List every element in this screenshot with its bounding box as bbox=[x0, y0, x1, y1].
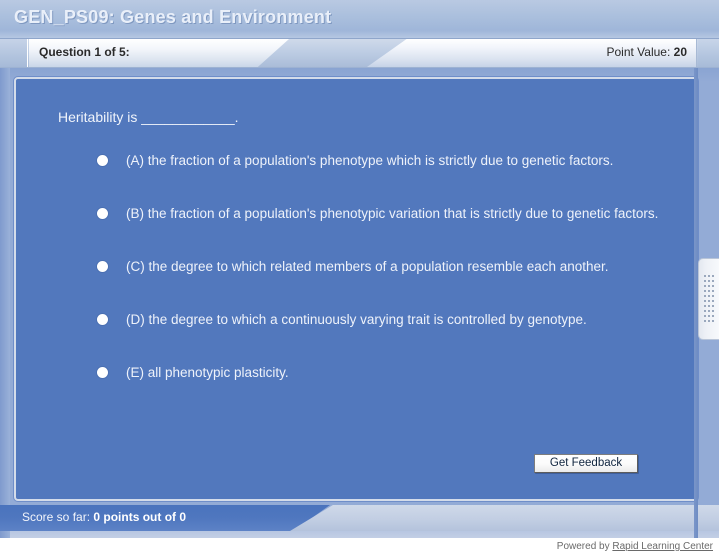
answer-options-list: (A) the fraction of a population's pheno… bbox=[94, 151, 674, 391]
powered-by: Powered by Rapid Learning Center bbox=[557, 541, 713, 552]
grip-dots-icon[interactable] bbox=[698, 258, 719, 340]
grip-dot bbox=[708, 300, 710, 302]
grip-dot bbox=[704, 275, 706, 277]
answer-option-b[interactable]: (B) the fraction of a population's pheno… bbox=[94, 204, 674, 232]
grip-dot bbox=[712, 290, 714, 292]
answer-option-label: (B) the fraction of a population's pheno… bbox=[126, 204, 674, 224]
footer: Powered by Rapid Learning Center bbox=[0, 538, 719, 556]
score-prefix: Score so far: bbox=[22, 510, 90, 524]
grip-dot bbox=[712, 320, 714, 322]
grip-dot bbox=[708, 295, 710, 297]
grip-dot bbox=[704, 310, 706, 312]
grip-dot bbox=[712, 300, 714, 302]
answer-option-label: (D) the degree to which a continuously v… bbox=[126, 310, 674, 330]
score-status-bar: Score so far: 0 points out of 0 bbox=[0, 505, 719, 531]
question-stem: Heritability is ____________. bbox=[58, 109, 239, 125]
grip-dot bbox=[708, 315, 710, 317]
grip-dot bbox=[712, 285, 714, 287]
title-bar: GEN_PS09: Genes and Environment bbox=[0, 0, 719, 39]
grip-dot bbox=[708, 280, 710, 282]
grip-dot bbox=[704, 305, 706, 307]
question-counter-label: Question 1 of 5: bbox=[39, 45, 130, 59]
quiz-application: GEN_PS09: Genes and Environment Question… bbox=[0, 0, 719, 556]
grip-dot bbox=[712, 280, 714, 282]
powered-by-prefix: Powered by bbox=[557, 541, 610, 552]
grip-dot bbox=[712, 305, 714, 307]
strip-left-cap bbox=[0, 39, 28, 67]
score-value: 0 points out of 0 bbox=[93, 510, 186, 524]
grip-dot bbox=[708, 275, 710, 277]
grip-dot bbox=[712, 315, 714, 317]
get-feedback-button[interactable]: Get Feedback bbox=[534, 454, 638, 473]
answer-option-label: (C) the degree to which related members … bbox=[126, 257, 674, 277]
score-bar-right-segment bbox=[290, 505, 719, 531]
score-text: Score so far: 0 points out of 0 bbox=[22, 510, 186, 524]
point-value-text: Point Value: bbox=[606, 45, 670, 59]
grip-dot bbox=[704, 300, 706, 302]
grip-dot bbox=[704, 295, 706, 297]
grip-dot bbox=[704, 290, 706, 292]
answer-option-label: (A) the fraction of a population's pheno… bbox=[126, 151, 674, 171]
radio-button-icon[interactable] bbox=[97, 155, 108, 166]
grip-dot-grid bbox=[704, 275, 716, 325]
left-rail bbox=[0, 68, 10, 538]
answer-option-c[interactable]: (C) the degree to which related members … bbox=[94, 257, 674, 285]
question-panel: Heritability is ____________. (A) the fr… bbox=[14, 77, 698, 501]
question-info-strip: Question 1 of 5: Point Value: 20 bbox=[0, 39, 719, 68]
page-title: GEN_PS09: Genes and Environment bbox=[14, 7, 331, 28]
point-value-number: 20 bbox=[674, 45, 687, 59]
radio-button-icon[interactable] bbox=[97, 208, 108, 219]
strip-right-cap bbox=[698, 39, 719, 67]
grip-dot bbox=[708, 290, 710, 292]
grip-dot bbox=[704, 315, 706, 317]
grip-dot bbox=[708, 305, 710, 307]
answer-option-a[interactable]: (A) the fraction of a population's pheno… bbox=[94, 151, 674, 179]
grip-dot bbox=[704, 320, 706, 322]
grip-dot bbox=[708, 285, 710, 287]
grip-dot bbox=[708, 320, 710, 322]
grip-dot bbox=[712, 310, 714, 312]
rapid-learning-center-link[interactable]: Rapid Learning Center bbox=[612, 541, 713, 552]
grip-dot bbox=[708, 310, 710, 312]
answer-option-label: (E) all phenotypic plasticity. bbox=[126, 363, 674, 383]
answer-option-d[interactable]: (D) the degree to which a continuously v… bbox=[94, 310, 674, 338]
point-value-label: Point Value: 20 bbox=[606, 45, 687, 59]
radio-button-icon[interactable] bbox=[97, 314, 108, 325]
radio-button-icon[interactable] bbox=[97, 367, 108, 378]
answer-option-e[interactable]: (E) all phenotypic plasticity. bbox=[94, 363, 674, 391]
grip-dot bbox=[712, 295, 714, 297]
grip-dot bbox=[704, 285, 706, 287]
grip-dot bbox=[712, 275, 714, 277]
grip-dot bbox=[704, 280, 706, 282]
radio-button-icon[interactable] bbox=[97, 261, 108, 272]
